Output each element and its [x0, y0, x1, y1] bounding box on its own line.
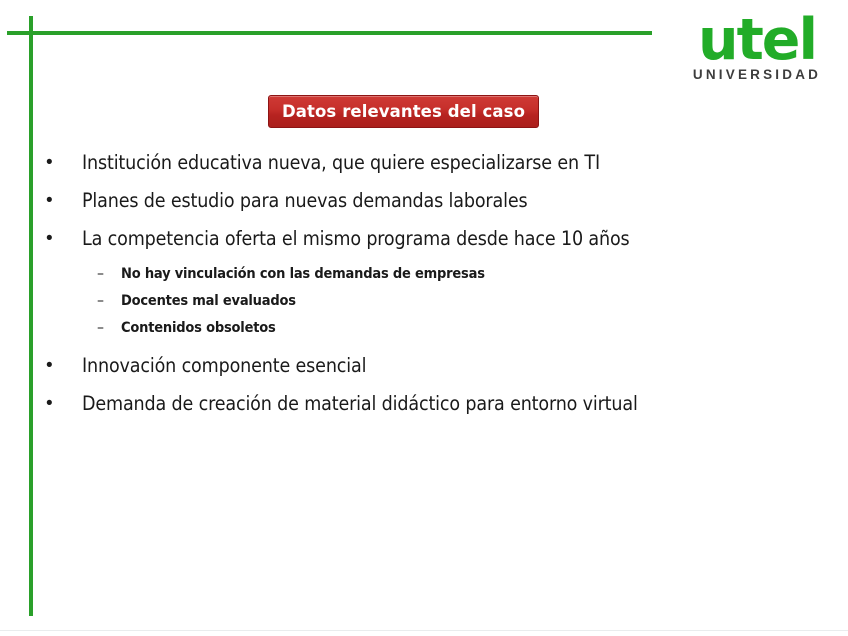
sub-list-group: –No hay vinculación con las demandas de …	[46, 262, 806, 343]
bullet-list: •Institución educativa nueva, que quiere…	[46, 148, 806, 427]
list-item-label: Planes de estudio para nuevas demandas l…	[82, 186, 527, 216]
bullet-dot-icon: •	[46, 389, 82, 419]
list-item: •Planes de estudio para nuevas demandas …	[46, 186, 806, 221]
logo-subtitle: UNIVERSIDAD	[672, 67, 842, 82]
list-item-label: Institución educativa nueva, que quiere …	[82, 148, 600, 178]
bullet-dot-icon: •	[46, 351, 82, 381]
slide-title-banner: Datos relevantes del caso	[268, 95, 539, 128]
sub-list-item: –Contenidos obsoletos	[97, 316, 806, 343]
left-vertical-rule	[29, 16, 33, 616]
list-item: •Demanda de creación de material didácti…	[46, 389, 806, 424]
logo-wordmark: utel	[672, 12, 842, 68]
list-item-label: Innovación componente esencial	[82, 351, 366, 381]
bullet-dash-icon: –	[97, 289, 121, 314]
list-item: •Innovación componente esencial	[46, 351, 806, 386]
sub-list-item-label: Docentes mal evaluados	[121, 289, 296, 314]
utel-logo: utel UNIVERSIDAD	[672, 12, 842, 90]
list-item: •La competencia oferta el mismo programa…	[46, 224, 806, 259]
bullet-dot-icon: •	[46, 148, 82, 178]
bullet-dash-icon: –	[97, 262, 121, 287]
sub-list-item-label: Contenidos obsoletos	[121, 316, 276, 341]
header-horizontal-rule	[7, 31, 652, 35]
sub-list-item: –No hay vinculación con las demandas de …	[97, 262, 806, 289]
sub-list-item: –Docentes mal evaluados	[97, 289, 806, 316]
list-item-label: Demanda de creación de material didáctic…	[82, 389, 638, 419]
footer-divider	[0, 630, 848, 631]
slide-canvas: utel UNIVERSIDAD Datos relevantes del ca…	[0, 0, 848, 636]
list-item: •Institución educativa nueva, que quiere…	[46, 148, 806, 183]
bullet-dot-icon: •	[46, 186, 82, 216]
bullet-dot-icon: •	[46, 224, 82, 254]
sub-list-item-label: No hay vinculación con las demandas de e…	[121, 262, 485, 287]
list-item-label: La competencia oferta el mismo programa …	[82, 224, 630, 254]
page-title: Datos relevantes del caso	[282, 102, 525, 121]
bullet-dash-icon: –	[97, 316, 121, 341]
